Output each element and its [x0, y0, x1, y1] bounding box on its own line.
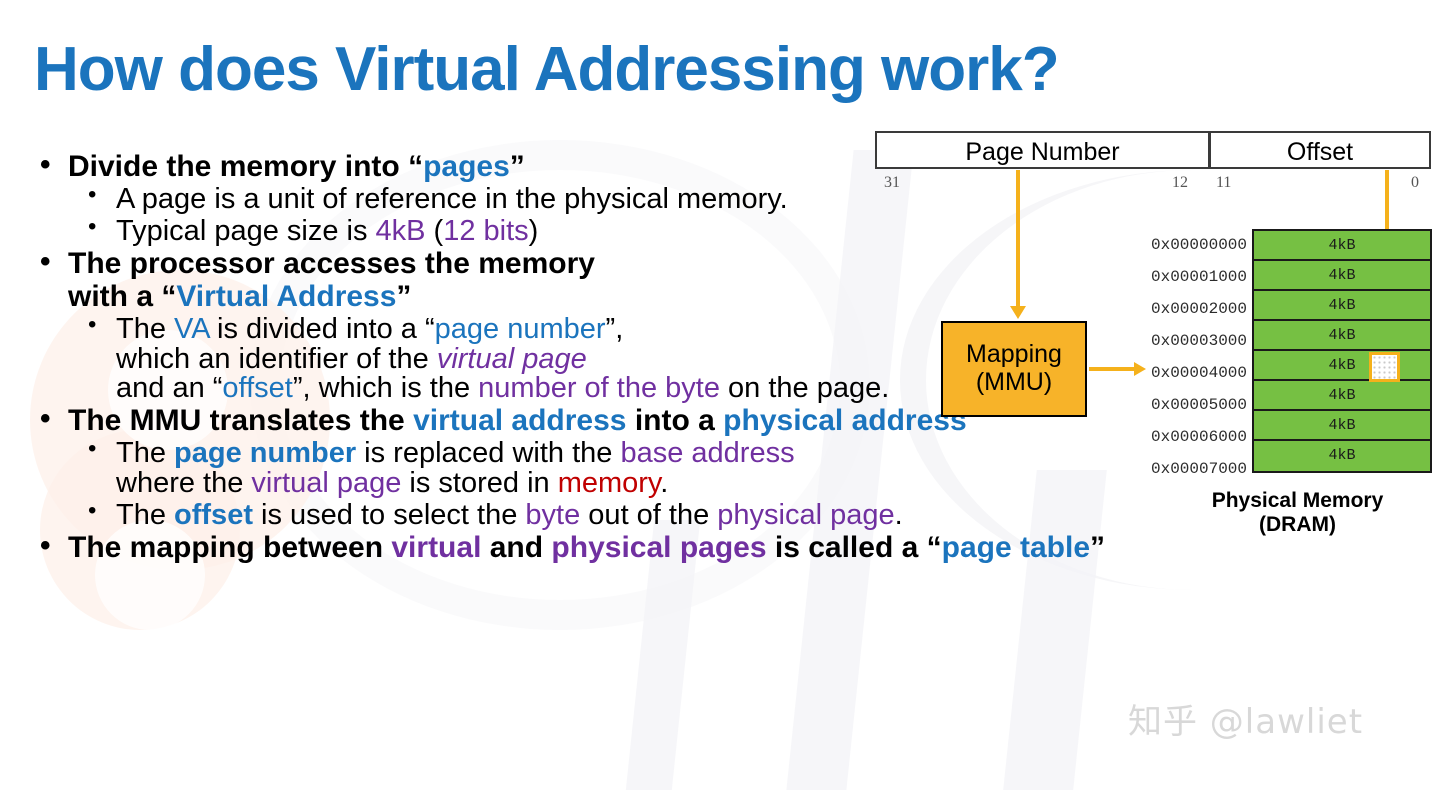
subbullet-text: is used to select the: [253, 499, 525, 531]
bullet-processor-accesses: The processor accesses the memory: [30, 249, 1160, 279]
bullet-text: into a: [627, 404, 724, 437]
slide-title: How does Virtual Addressing work?: [34, 34, 1059, 105]
subbullet-text: out of the: [580, 499, 717, 531]
subbullet-text: is stored in: [401, 467, 557, 499]
term-12-bits: 12 bits: [443, 215, 528, 247]
subbullet-text: .: [895, 499, 903, 531]
bullet-text: The processor accesses the memory: [68, 247, 595, 280]
bit-label-11: 11: [1216, 174, 1231, 192]
bullet-text: with a “: [68, 280, 176, 313]
term-number-of-byte: number of the byte: [478, 372, 720, 404]
mmu-box: Mapping (MMU): [941, 321, 1087, 417]
mmu-line1: Mapping: [943, 340, 1085, 368]
memory-address-label: 0x00003000: [1135, 325, 1247, 357]
memory-address-label: 0x00007000: [1135, 453, 1247, 485]
subbullet-text: is divided into a “: [209, 313, 435, 345]
subbullet-text: A page is a unit of reference in the phy…: [116, 183, 788, 215]
subbullet-text: Typical page size is: [116, 215, 376, 247]
memory-address-label: 0x00001000: [1135, 261, 1247, 293]
bullet-text: ”: [396, 280, 411, 313]
subbullet-line: where the virtual page is stored in memo…: [116, 469, 1160, 499]
arrow-head-icon: [1010, 306, 1026, 319]
term-virtual-page-2: virtual page: [251, 467, 401, 499]
highlighted-byte-cell: [1369, 352, 1400, 382]
bullet-text: Divide the memory into “: [68, 150, 423, 183]
subbullet-text: ”,: [606, 313, 624, 345]
subbullet-text: ”, which is the: [293, 372, 478, 404]
term-physical-page: physical page: [717, 499, 894, 531]
subbullet-text: and an “: [116, 372, 222, 404]
memory-row: 4kB: [1254, 261, 1430, 291]
subbullet-text: which an identifier of the: [116, 343, 437, 375]
bullet-page-table: The mapping between virtual and physical…: [30, 533, 1160, 563]
bullet-text: ”: [1090, 531, 1105, 564]
term-virtual-address-2: virtual address: [413, 404, 626, 437]
term-base-address: base address: [620, 437, 794, 469]
memory-row: 4kB: [1254, 291, 1430, 321]
subbullet-text: The: [116, 313, 174, 345]
memory-row: 4kB: [1254, 231, 1430, 261]
mmu-line2: (MMU): [943, 368, 1085, 396]
subbullet-text: on the page.: [720, 372, 889, 404]
bit-label-31: 31: [884, 174, 900, 192]
term-physical-address: physical address: [723, 404, 966, 437]
memory-row: 4kB: [1254, 411, 1430, 441]
term-pages: pages: [423, 150, 510, 183]
subbullet-page-size: Typical page size is 4kB (12 bits): [30, 217, 1160, 247]
term-byte: byte: [525, 499, 580, 531]
term-virtual: virtual: [391, 531, 481, 564]
subbullet-text: (: [426, 215, 444, 247]
address-field-offset: Offset: [1209, 131, 1431, 169]
subbullet-offset-selects: The offset is used to select the byte ou…: [30, 501, 1160, 531]
term-page-number-2: page number: [174, 437, 356, 469]
bullet-processor-accesses-line2: with a “Virtual Address”: [30, 282, 1160, 312]
memory-address-label: 0x00004000: [1135, 357, 1247, 389]
subbullet-page-number-replaced: The page number is replaced with the bas…: [30, 439, 1160, 499]
memory-address-label: 0x00006000: [1135, 421, 1247, 453]
zhihu-watermark: 知乎 @lawliet: [1128, 694, 1363, 743]
memory-row: 4kB: [1254, 351, 1430, 381]
memory-caption-line2: (DRAM): [1155, 513, 1440, 537]
bullet-text: The MMU translates the: [68, 404, 413, 437]
bit-label-0: 0: [1411, 174, 1419, 192]
term-offset: offset: [222, 372, 292, 404]
term-page-number: page number: [435, 313, 606, 345]
memory-address-list: 0x000000000x000010000x000020000x00003000…: [1135, 229, 1247, 485]
memory-caption-line1: Physical Memory: [1155, 489, 1440, 513]
term-physical-pages: physical pages: [551, 531, 766, 564]
memory-address-label: 0x00000000: [1135, 229, 1247, 261]
term-virtual-page: virtual page: [437, 343, 587, 375]
memory-address-label: 0x00002000: [1135, 293, 1247, 325]
subbullet-page-unit: A page is a unit of reference in the phy…: [30, 185, 1160, 215]
memory-row: 4kB: [1254, 441, 1430, 471]
arrow-mmu-to-memory: [1089, 367, 1137, 371]
subbullet-text: where the: [116, 467, 251, 499]
memory-row: 4kB: [1254, 381, 1430, 411]
bullet-text: The mapping between: [68, 531, 391, 564]
bullet-text: ”: [510, 150, 525, 183]
arrow-page-number-to-mmu: [1016, 170, 1020, 308]
term-va: VA: [174, 313, 209, 345]
bullet-text: is called a “: [767, 531, 942, 564]
bit-label-12: 12: [1172, 174, 1188, 192]
physical-memory-table: 4kB4kB4kB4kB4kB4kB4kB4kB: [1252, 229, 1432, 473]
memory-row: 4kB: [1254, 321, 1430, 351]
term-offset-2: offset: [174, 499, 253, 531]
subbullet-text: The: [116, 499, 174, 531]
subbullet-text: ): [529, 215, 539, 247]
subbullet-text: .: [660, 467, 668, 499]
address-field-page-number: Page Number: [875, 131, 1210, 169]
subbullet-text: The: [116, 437, 174, 469]
term-virtual-address: Virtual Address: [176, 280, 396, 313]
subbullet-text: is replaced with the: [356, 437, 620, 469]
term-memory: memory: [558, 467, 661, 499]
term-4kb: 4kB: [376, 215, 426, 247]
memory-caption: Physical Memory (DRAM): [1155, 489, 1440, 537]
term-page-table: page table: [942, 531, 1090, 564]
memory-address-label: 0x00005000: [1135, 389, 1247, 421]
bullet-text: and: [481, 531, 551, 564]
